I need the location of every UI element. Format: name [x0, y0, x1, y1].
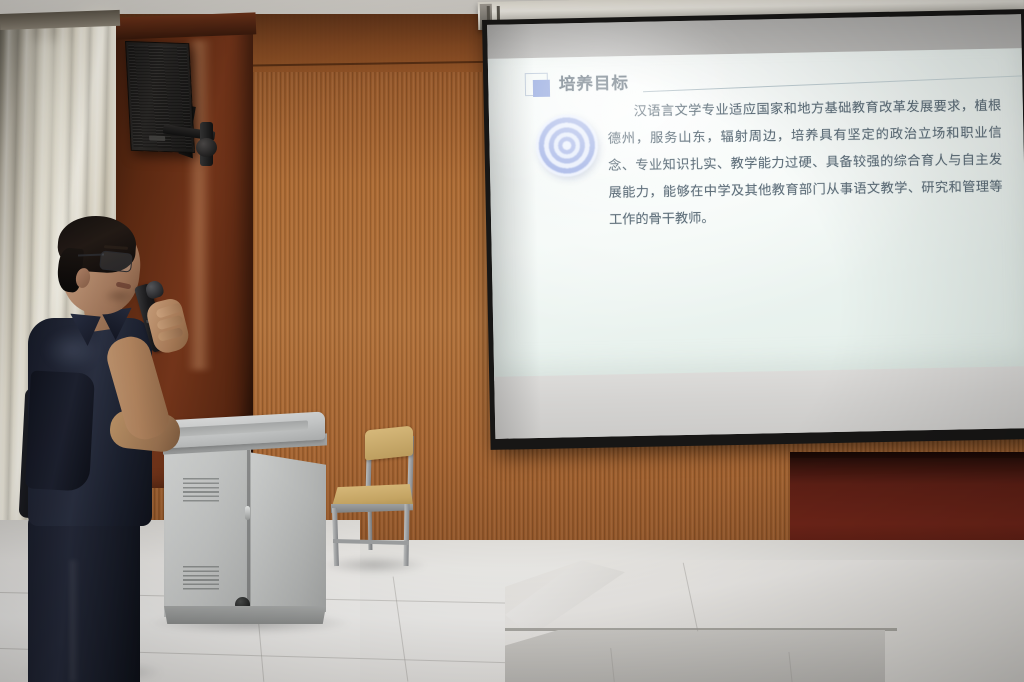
lectern-vent-upper: [183, 478, 219, 504]
lectern-side-panel: [248, 452, 326, 612]
slide-body-text: 汉语言文学专业适应国家和地方基础教育改革发展要求，植根德州，服务山东，辐射周边，…: [607, 94, 1003, 235]
presenter-sleeve: [25, 370, 95, 491]
lectern-base: [164, 606, 326, 624]
projection-screen-surface: 培养目标 汉语言文学专业适应国家和地方基础教育改革发展要求，植根德州，服务山东，…: [487, 14, 1024, 439]
chair-backrest: [365, 425, 413, 460]
glasses-icon: [99, 250, 133, 272]
stage-platform-face: [505, 630, 885, 682]
lectern-vent-lower: [183, 566, 219, 592]
speaker-bracket-knob: [196, 138, 217, 157]
screen-unlit-bottom-band: [494, 366, 1024, 439]
trouser-fold-highlight: [70, 560, 80, 682]
lectern-corner-edge: [247, 450, 250, 615]
slide-title-rule: [643, 75, 1024, 93]
projected-slide: 培养目标 汉语言文学专业适应国家和地方基础教育改革发展要求，植根德州，服务山东，…: [488, 48, 1024, 381]
projection-screen-frame: 培养目标 汉语言文学专业适应国家和地方基础教育改革发展要求，植根德州，服务山东，…: [482, 9, 1024, 450]
chin-shadow: [104, 288, 134, 304]
slide-title: 培养目标: [559, 70, 629, 95]
lecture-room-photo: 培养目标 汉语言文学专业适应国家和地方基础教育改革发展要求，植根德州，服务山东，…: [0, 0, 1024, 682]
speaker-badge: [149, 135, 165, 141]
blue-square-icon: [533, 80, 550, 97]
presenter-trousers: [28, 510, 140, 682]
bullseye-target-icon: [535, 114, 598, 177]
lectern-door-latch[interactable]: [245, 506, 250, 520]
